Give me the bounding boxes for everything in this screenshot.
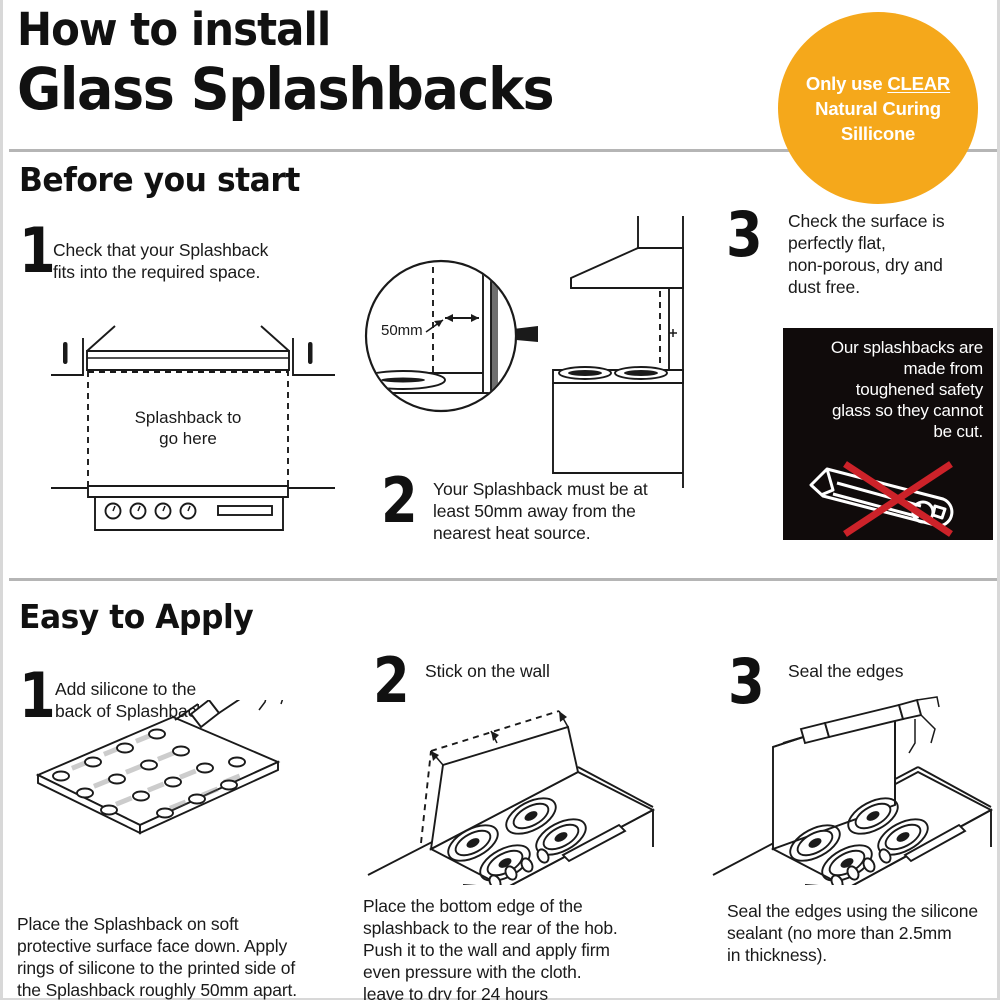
step-text-before-1-line1: Check that your Splashback xyxy=(53,240,268,260)
step-title-apply-2-line1: Stick on the wall xyxy=(425,661,550,681)
infographic-page: How to install Glass Splashbacks Only us… xyxy=(0,0,1000,1000)
step-number-before-3: 3 xyxy=(726,206,763,264)
badge-text: Only use CLEAR Natural Curing Sillicone xyxy=(806,71,950,146)
step-title-apply-3-line1: Seal the edges xyxy=(788,661,903,681)
step-text-before-3-line4: dust free. xyxy=(788,277,860,297)
diagram-label-line2: go here xyxy=(159,429,217,448)
warning-line-4: glass so they cannot xyxy=(832,401,983,420)
diagram-heat-source-clearance: 50mm xyxy=(363,208,693,488)
step-body-apply-2: Place the bottom edge of the splashback … xyxy=(363,895,703,1000)
page-title: How to install Glass Splashbacks xyxy=(17,4,594,122)
diagram-silicone-on-board xyxy=(13,700,343,890)
badge-line-2: Natural Curing xyxy=(815,98,941,119)
step-body-apply-1-line3: rings of silicone to the printed side of xyxy=(17,958,295,978)
warning-line-1: Our splashbacks are xyxy=(831,338,983,357)
diagram-splashback-space: Splashback to go here xyxy=(43,318,343,533)
title-line-2: Glass Splashbacks xyxy=(17,56,553,122)
step-body-apply-3-line2: sealant (no more than 2.5mm xyxy=(727,923,952,943)
step-body-apply-2-line2: splashback to the rear of the hob. xyxy=(363,918,618,938)
step-text-before-2-line2: least 50mm away from the xyxy=(433,501,636,521)
step-body-apply-3-line3: in thickness). xyxy=(727,945,827,965)
step-text-before-3-line3: non-porous, dry and xyxy=(788,255,943,275)
step-body-apply-1-line4: the Splashback roughly 50mm apart. xyxy=(17,980,297,1000)
warning-line-2: made from xyxy=(904,359,983,378)
step-number-before-2: 2 xyxy=(381,472,418,530)
step-text-before-1-line2: fits into the required space. xyxy=(53,262,260,282)
badge-line-1-prefix: Only use xyxy=(806,73,887,94)
diagram-stick-on-wall xyxy=(363,685,693,885)
step-body-apply-1-line2: protective surface face down. Apply xyxy=(17,936,287,956)
step-body-apply-1: Place the Splashback on soft protective … xyxy=(17,913,362,1000)
step-body-apply-2-line1: Place the bottom edge of the xyxy=(363,896,583,916)
badge-line-1-clear: CLEAR xyxy=(887,73,950,94)
clear-silicone-badge: Only use CLEAR Natural Curing Sillicone xyxy=(778,12,978,204)
step-body-apply-2-line5: leave to dry for 24 hours xyxy=(363,984,548,1000)
step-text-before-2-line3: nearest heat source. xyxy=(433,523,591,543)
step-text-before-2: Your Splashback must be at least 50mm aw… xyxy=(433,478,703,544)
step-title-apply-2: Stick on the wall xyxy=(425,660,675,682)
warning-box-text: Our splashbacks are made from toughened … xyxy=(793,337,983,442)
step-text-before-3-line2: perfectly flat, xyxy=(788,233,886,253)
step-body-apply-3: Seal the edges using the silicone sealan… xyxy=(727,900,1000,966)
caulking-gun-icon xyxy=(175,700,287,727)
step-body-apply-2-line4: even pressure with the cloth. xyxy=(363,962,581,982)
step-title-apply-3: Seal the edges xyxy=(788,660,1000,682)
divider-middle xyxy=(9,578,997,581)
step-body-apply-1-line1: Place the Splashback on soft xyxy=(17,914,239,934)
step-text-before-3-line1: Check the surface is xyxy=(788,211,945,231)
step-body-apply-2-line3: Push it to the wall and apply firm xyxy=(363,940,610,960)
diagram-label-50mm: 50mm xyxy=(381,322,423,339)
diagram-seal-edges xyxy=(703,685,1000,885)
badge-line-3: Sillicone xyxy=(841,123,915,144)
box-cutter-crossed-icon xyxy=(793,450,983,540)
step-text-before-1: Check that your Splashback fits into the… xyxy=(53,239,323,283)
step-text-before-2-line1: Your Splashback must be at xyxy=(433,479,648,499)
diagram-label-line1: Splashback to xyxy=(135,408,242,427)
step-body-apply-3-line1: Seal the edges using the silicone xyxy=(727,901,978,921)
section-heading-before-you-start: Before you start xyxy=(19,160,300,199)
step-text-before-3: Check the surface is perfectly flat, non… xyxy=(788,210,1000,298)
title-line-1: How to install xyxy=(17,4,553,56)
section-heading-easy-to-apply: Easy to Apply xyxy=(19,597,253,636)
warning-box-cannot-be-cut: Our splashbacks are made from toughened … xyxy=(783,328,993,540)
step-title-apply-1-line1: Add silicone to the xyxy=(55,679,196,699)
warning-line-5: be cut. xyxy=(933,422,983,441)
step-number-before-1: 1 xyxy=(19,222,56,280)
warning-line-3: toughened safety xyxy=(856,380,983,399)
